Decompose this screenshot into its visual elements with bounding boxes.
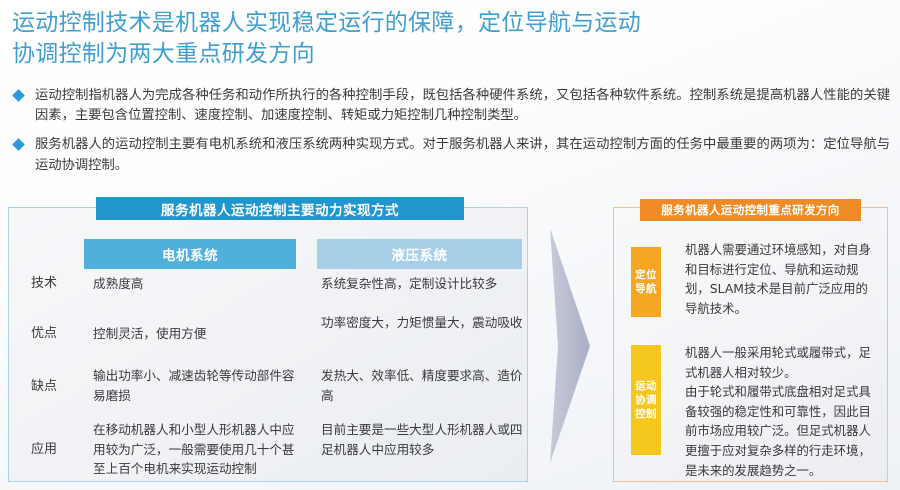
left-panel-header: 服务机器人运动控制主要动力实现方式 — [96, 197, 464, 220]
row-cell-motor: 输出功率小、减速齿轮等传动部件容易磨损 — [93, 366, 305, 405]
right-arrow-icon — [548, 228, 592, 463]
direction-tag-localization: 定位 导航 — [631, 247, 661, 317]
slide-canvas: 运动控制技术是机器人实现稳定运行的保障，定位导航与运动 协调控制为两大重点研发方… — [0, 0, 900, 490]
row-cell-motor: 成熟度高 — [93, 274, 305, 294]
direction-text-motion-coordination: 机器人一般采用轮式或履带式，足式机器人相对较少。 由于轮式和履带式底盘相对足式具… — [685, 343, 878, 480]
bullet-list: 运动控制指机器人为完成各种任务和动作所执行的各种控制手段，既包括各种硬件系统，又… — [12, 86, 890, 185]
bullet-text: 服务机器人的运动控制主要有电机系统和液压系统两种实现方式。对于服务机器人来讲，其… — [35, 135, 890, 175]
direction-text-localization: 机器人需要通过环境感知，对自身和目标进行定位、导航和运动规划，SLAM技术是目前… — [685, 240, 878, 318]
list-item: 服务机器人的运动控制主要有电机系统和液压系统两种实现方式。对于服务机器人来讲，其… — [12, 135, 890, 175]
row-cell-hydraulic: 发热大、效率低、精度要求高、造价高 — [321, 366, 526, 405]
row-label: 应用 — [31, 440, 91, 460]
list-item: 运动控制指机器人为完成各种任务和动作所执行的各种控制手段，既包括各种硬件系统，又… — [12, 86, 890, 126]
row-label: 技术 — [31, 274, 91, 294]
diamond-bullet-icon — [12, 89, 25, 102]
row-cell-motor: 在移动机器人和小型人形机器人中应用较为广泛，一般需要使用几十个甚至上百个电机来实… — [93, 420, 305, 479]
row-cell-hydraulic: 目前主要是一些大型人形机器人或四足机器人中应用较多 — [321, 420, 526, 459]
page-title: 运动控制技术是机器人实现稳定运行的保障，定位导航与运动 协调控制为两大重点研发方… — [12, 8, 802, 69]
direction-tag-motion-coordination: 运动 协调 控制 — [631, 345, 661, 455]
row-label: 缺点 — [31, 377, 91, 397]
right-panel-header: 服务机器人运动控制重点研发方向 — [640, 199, 861, 221]
row-cell-hydraulic: 功率密度大，力矩惯量大，震动吸收 — [321, 313, 526, 333]
column-header-motor: 电机系统 — [84, 239, 296, 269]
row-label: 优点 — [31, 324, 91, 344]
bullet-text: 运动控制指机器人为完成各种任务和动作所执行的各种控制手段，既包括各种硬件系统，又… — [35, 86, 890, 126]
row-cell-motor: 控制灵活，使用方便 — [93, 324, 305, 344]
column-header-hydraulic: 液压系统 — [317, 239, 522, 269]
row-cell-hydraulic: 系统复杂性高，定制设计比较多 — [321, 274, 526, 294]
diamond-bullet-icon — [12, 139, 25, 152]
